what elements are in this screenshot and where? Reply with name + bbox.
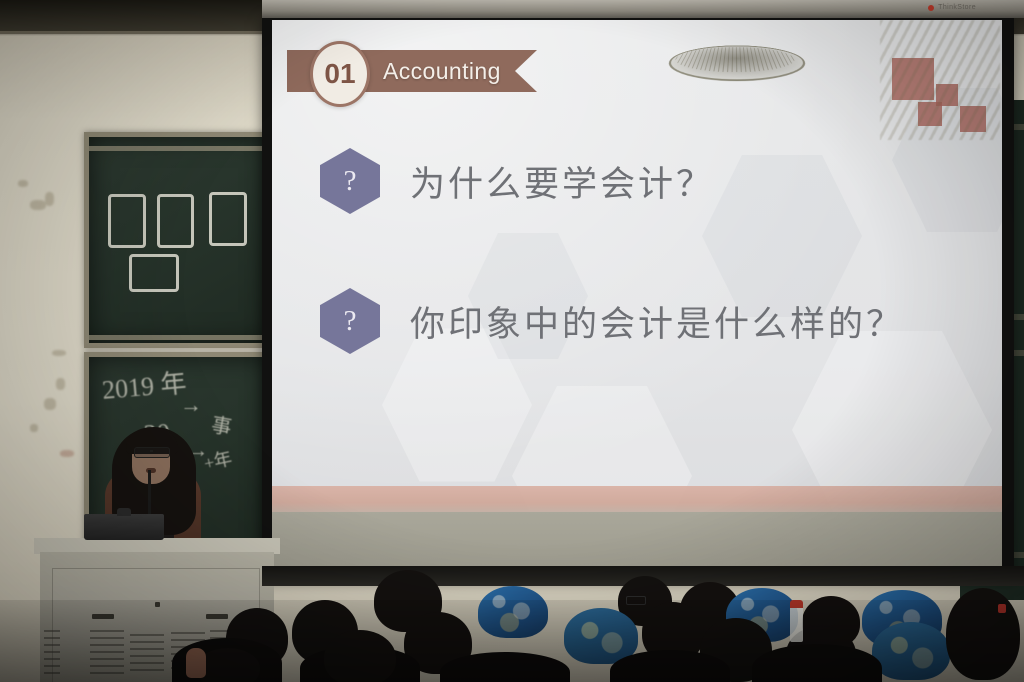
slide-bullet-1-text: 为什么要学会计？ [410, 156, 714, 207]
audience [0, 560, 1024, 682]
wall-mark [60, 450, 74, 457]
question-hexagon-icon: ? [320, 288, 380, 354]
classroom-photo-scene: 2019 年 20 事 +年 → → ThinkStore [0, 0, 1024, 682]
audience-head-cap [872, 622, 950, 680]
brand-dot-icon [928, 5, 934, 11]
wall-mark [45, 192, 54, 206]
section-title: Accounting [383, 58, 501, 85]
audience-head-cap [478, 586, 548, 638]
projector-screen-case: ThinkStore [262, 0, 1024, 18]
bottle-cap [998, 604, 1006, 613]
question-hexagon-icon: ? [320, 148, 380, 214]
slide-bullet-2: ? 你印象中的会计是什么样的？ [320, 288, 904, 354]
blackboard-upper [84, 132, 274, 348]
fan-grille-shadow [667, 47, 803, 72]
audience-glasses-icon [626, 596, 646, 605]
audience-head [324, 630, 396, 682]
chalk-arrow: → [180, 392, 202, 418]
slide-bottom-band [272, 486, 1002, 514]
chalk-rectangle [129, 254, 179, 292]
water-bottle [790, 600, 803, 642]
screen-brand-logo: ThinkStore [928, 4, 976, 11]
board-ledge [89, 146, 269, 151]
wall-mark [18, 180, 28, 187]
audience-head [946, 588, 1020, 680]
glasses-icon [134, 447, 170, 458]
wall-mark [56, 378, 65, 390]
screen-brand-label: ThinkStore [938, 4, 976, 11]
slide-bullet-1: ? 为什么要学会计？ [320, 148, 714, 214]
chalk-note-year: 2019 年 [100, 363, 187, 407]
wall-mark [30, 200, 46, 210]
audience-shoulders [440, 652, 570, 682]
board-ledge [89, 335, 269, 340]
chalk-rectangle [108, 194, 146, 248]
wall-mark [30, 424, 38, 432]
corner-square-decoration [918, 102, 942, 126]
wall-trim [0, 31, 300, 34]
corner-square-decoration [892, 58, 934, 100]
laptop [84, 514, 164, 540]
slide-bullet-2-text: 你印象中的会计是什么样的？ [410, 296, 904, 347]
wall-mark [52, 350, 66, 356]
section-number-badge: 01 [310, 41, 370, 107]
presentation-slide: Accounting 01 ? 为什么要学会计？ ? 你印象中的会计是什么样的？ [272, 20, 1002, 572]
audience-hand [186, 648, 206, 678]
fan-blade-shadow [655, 45, 819, 81]
corner-square-decoration [960, 106, 986, 132]
audience-shoulders [752, 644, 882, 682]
chalk-rectangle [157, 194, 194, 248]
wall-mark [44, 398, 56, 410]
chalk-rectangle [209, 192, 247, 246]
